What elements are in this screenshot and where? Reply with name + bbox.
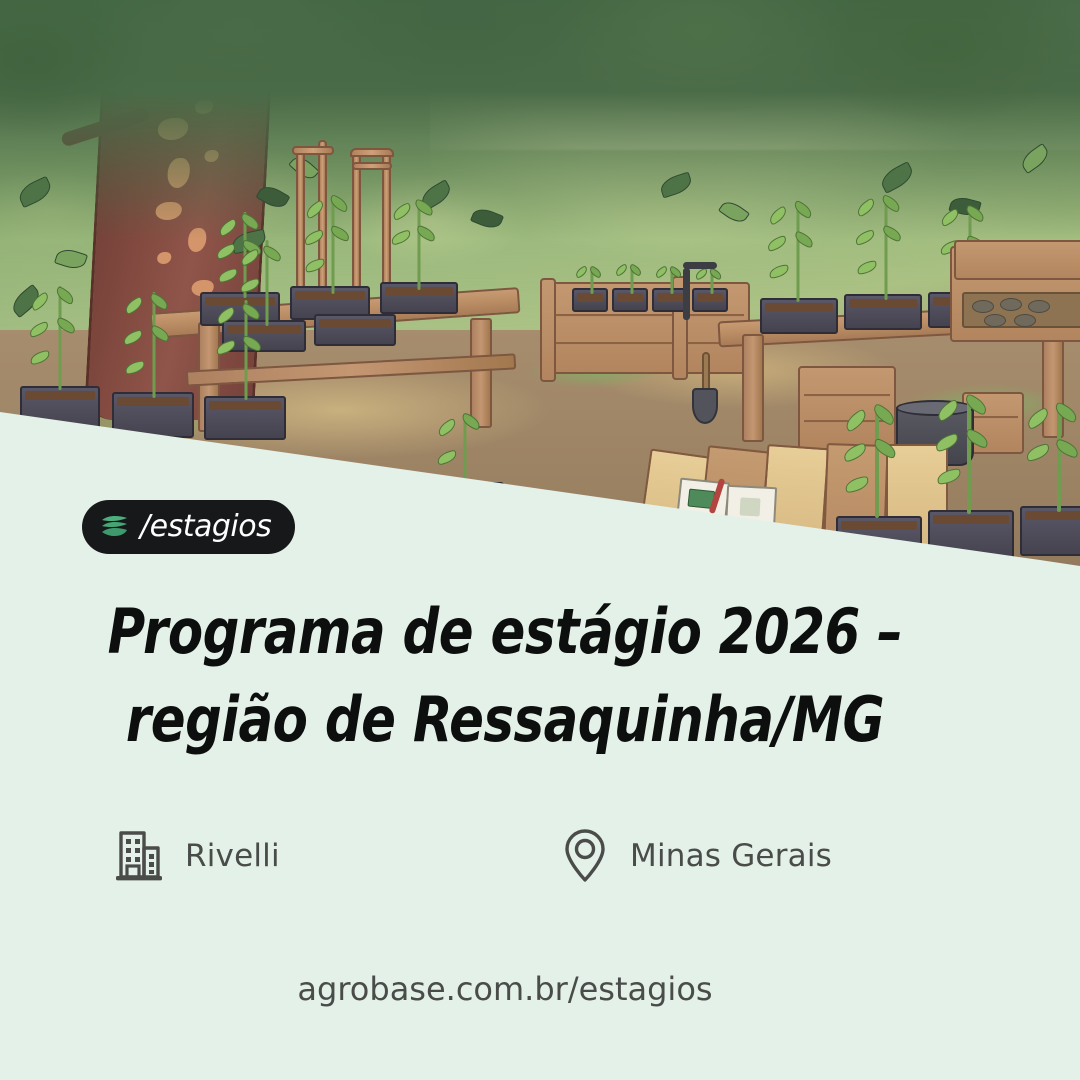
meta-row: Rivelli Minas Gerais (0, 828, 1010, 894)
seedling-plant (664, 268, 680, 294)
seedling-plant (1044, 404, 1074, 512)
stacked-leaves-logo-icon (100, 514, 130, 540)
seedling-plant (584, 268, 600, 294)
location-name: Minas Gerais (630, 838, 832, 874)
seedling-tray (760, 298, 838, 334)
potting-bench-right-leg (742, 334, 764, 442)
trowel-handle (702, 352, 710, 392)
seedling-plant (46, 286, 74, 390)
seedling-plant (624, 266, 640, 294)
garden-fork-tine (350, 148, 394, 157)
poster-canvas: /estagios Programa de estágio 2026 – reg… (0, 0, 1080, 1080)
seedling-plant (954, 398, 984, 514)
garden-fork-crossbar (352, 162, 392, 170)
potting-bench-left-leg (470, 318, 492, 428)
map-pin-icon (560, 828, 610, 884)
trowel-blade (692, 388, 718, 424)
foreground-pot (1020, 506, 1080, 556)
seedling-plant (320, 196, 346, 294)
crate-post (540, 278, 556, 382)
building-icon (113, 828, 165, 884)
seedling-plant (862, 406, 892, 518)
brand-logo-pill[interactable]: /estagios (82, 500, 295, 554)
soil-pellet (1028, 300, 1050, 313)
seedling-plant (140, 292, 168, 398)
soil-pellet (972, 300, 994, 313)
location-info: Minas Gerais (560, 828, 832, 884)
footer-url[interactable]: agrobase.com.br/estagios (0, 970, 1010, 1008)
hand-tool-shaft (683, 268, 690, 320)
seedling-tray (314, 314, 396, 346)
seedling-plant (704, 270, 720, 294)
seedling-plant (784, 204, 812, 302)
seedling-plant (872, 198, 900, 300)
hand-tool-hook (683, 262, 717, 269)
page-title: Programa de estágio 2026 – região de Res… (40, 588, 969, 764)
garden-fork-tine (292, 146, 334, 155)
seedling-plant (406, 200, 432, 290)
tree-canopy (0, 0, 1080, 240)
company-name: Rivelli (185, 838, 280, 874)
soil-pellet (984, 314, 1006, 327)
garden-fork-handle (382, 148, 391, 298)
company-info: Rivelli (113, 828, 280, 884)
soil-pellet (1000, 298, 1022, 311)
brand-logo-text: /estagios (140, 512, 271, 542)
foreground-pot (204, 396, 286, 440)
crate-back-panel (954, 240, 1080, 280)
soil-pellet (1014, 314, 1036, 327)
seedling-plant (232, 300, 260, 400)
